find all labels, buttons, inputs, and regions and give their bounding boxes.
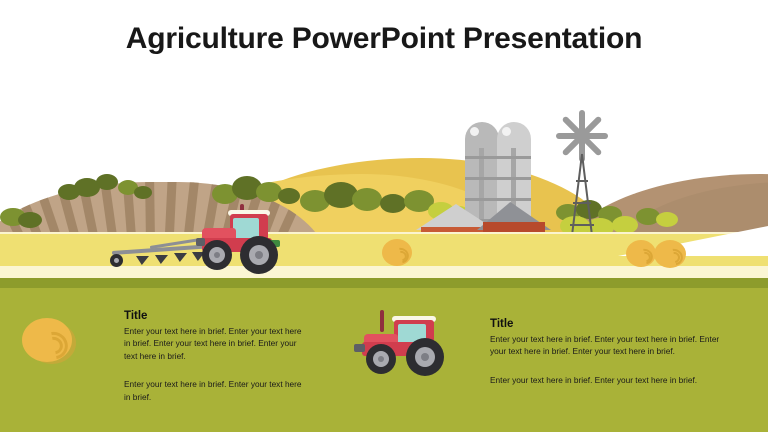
- silo-band: [497, 198, 531, 201]
- hay-bale-lower: [22, 318, 72, 362]
- text-column-left: Title Enter your text here in brief. Ent…: [124, 310, 304, 403]
- tree-bush: [96, 174, 118, 190]
- column-paragraph-right-2: Enter your text here in brief. Enter you…: [490, 374, 732, 386]
- silo-band: [465, 198, 499, 201]
- tractor-lower: [352, 310, 454, 372]
- page-title: Agriculture PowerPoint Presentation: [0, 22, 768, 56]
- windmill-tower: [560, 154, 604, 236]
- silo-cap-icon: [470, 127, 479, 136]
- column-heading-right: Title: [490, 318, 732, 330]
- windmill-blades-icon: [560, 114, 604, 158]
- grass-dark-strip: [0, 278, 768, 288]
- hay-bale: [626, 240, 656, 267]
- tractor-rear-wheel-cap: [255, 251, 263, 259]
- tree-bush: [352, 188, 382, 211]
- tree-bush: [18, 212, 42, 228]
- silo-band: [465, 156, 499, 159]
- tractor-front-wheel-cap: [214, 252, 220, 258]
- tractor-front-hitch: [196, 238, 205, 246]
- hay-bale: [382, 239, 412, 266]
- column-paragraph-left-1: Enter your text here in brief. Enter you…: [124, 325, 304, 362]
- tractor-exhaust-pipe: [380, 310, 384, 332]
- tractor-front-wheel-cap: [378, 356, 384, 362]
- tractor-rear-wheel-cap: [421, 353, 429, 361]
- tree-bush: [134, 186, 152, 199]
- windmill-crossbar: [570, 224, 594, 226]
- text-column-right: Title Enter your text here in brief. Ent…: [490, 318, 732, 386]
- column-paragraph-left-2: Enter your text here in brief. Enter you…: [124, 378, 304, 403]
- hay-bale: [654, 240, 686, 268]
- column-heading-left: Title: [124, 310, 304, 322]
- silo-band: [465, 177, 499, 180]
- silo-band: [497, 177, 531, 180]
- slide: Agriculture PowerPoint Presentation: [0, 0, 768, 432]
- windmill-crossbar: [573, 202, 591, 204]
- tractor-front-hitch: [354, 344, 365, 352]
- tree-bush: [656, 212, 678, 227]
- windmill-crossbar: [576, 180, 588, 182]
- column-paragraph-right-1: Enter your text here in brief. Enter you…: [490, 333, 732, 358]
- plow-wheel-hub: [114, 258, 119, 263]
- field-cream-band-lower: [0, 266, 768, 278]
- silo-band: [497, 156, 531, 159]
- tree-bush: [278, 188, 300, 204]
- tree-bush: [380, 194, 406, 213]
- windmill: [560, 114, 620, 236]
- tractor-upper: [196, 204, 288, 270]
- silo-cap-icon: [502, 127, 511, 136]
